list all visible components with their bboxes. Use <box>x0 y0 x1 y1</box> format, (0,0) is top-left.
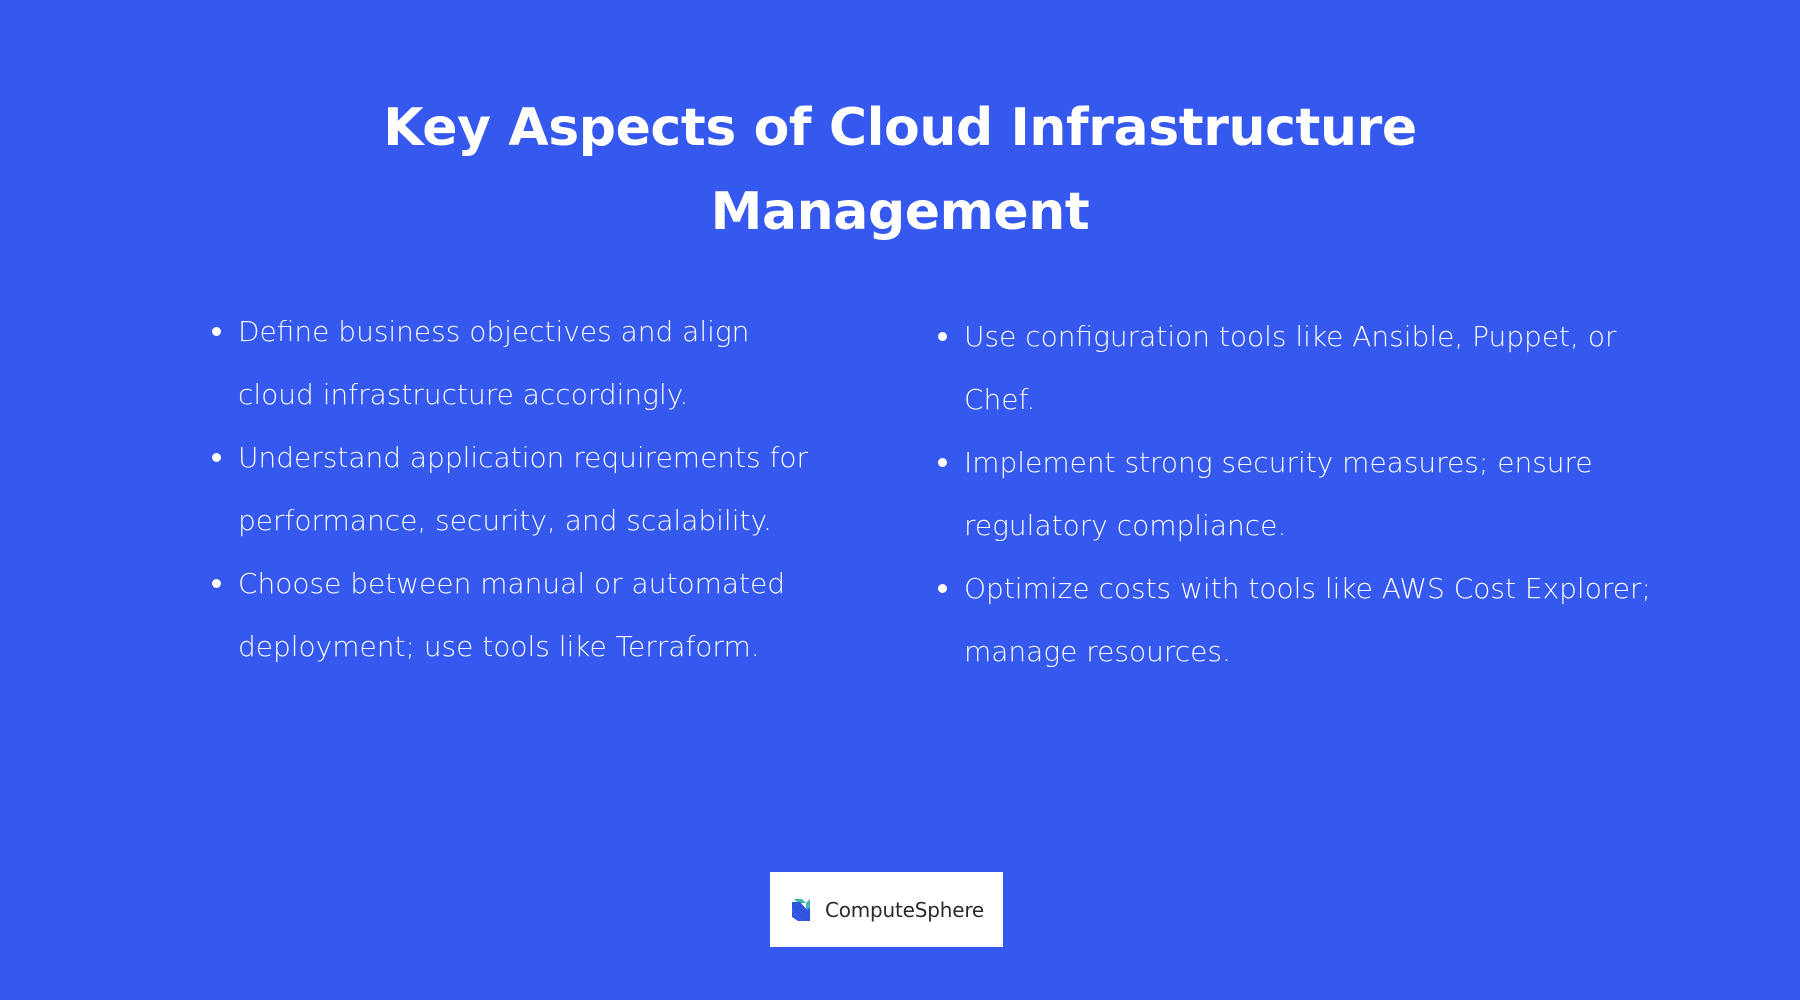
brand-logo-badge: ComputeSphere <box>770 872 1003 947</box>
bullet-dot-icon <box>212 579 221 588</box>
list-item: Use configuration tools like Ansible, Pu… <box>932 305 1660 431</box>
right-bullet-list: Use configuration tools like Ansible, Pu… <box>932 305 1660 683</box>
left-bullet-list: Define business objectives and align clo… <box>206 300 816 678</box>
bullet-dot-icon <box>938 332 947 341</box>
list-item: Define business objectives and align clo… <box>206 300 816 426</box>
computesphere-logo-icon <box>789 896 815 924</box>
left-column: Define business objectives and align clo… <box>0 300 900 678</box>
list-item-label: Choose between manual or automated deplo… <box>238 567 785 663</box>
bullet-dot-icon <box>212 453 221 462</box>
list-item-label: Define business objectives and align clo… <box>238 315 749 411</box>
list-item: Choose between manual or automated deplo… <box>206 552 816 678</box>
right-column: Use configuration tools like Ansible, Pu… <box>900 305 1800 683</box>
bullet-dot-icon <box>938 584 947 593</box>
list-item-label: Optimize costs with tools like AWS Cost … <box>964 572 1651 668</box>
list-item-label: Implement strong security measures; ensu… <box>964 446 1593 542</box>
page-title: Key Aspects of Cloud Infrastructure Mana… <box>300 86 1500 254</box>
title-block: Key Aspects of Cloud Infrastructure Mana… <box>300 86 1500 254</box>
content-columns: Define business objectives and align clo… <box>0 300 1800 683</box>
list-item: Implement strong security measures; ensu… <box>932 431 1660 557</box>
bullet-dot-icon <box>212 327 221 336</box>
list-item-label: Use configuration tools like Ansible, Pu… <box>964 320 1616 416</box>
bullet-dot-icon <box>938 458 947 467</box>
list-item: Understand application requirements for … <box>206 426 816 552</box>
list-item: Optimize costs with tools like AWS Cost … <box>932 557 1660 683</box>
slide-canvas: Key Aspects of Cloud Infrastructure Mana… <box>0 0 1800 1000</box>
brand-name-label: ComputeSphere <box>825 898 984 922</box>
list-item-label: Understand application requirements for … <box>238 441 808 537</box>
